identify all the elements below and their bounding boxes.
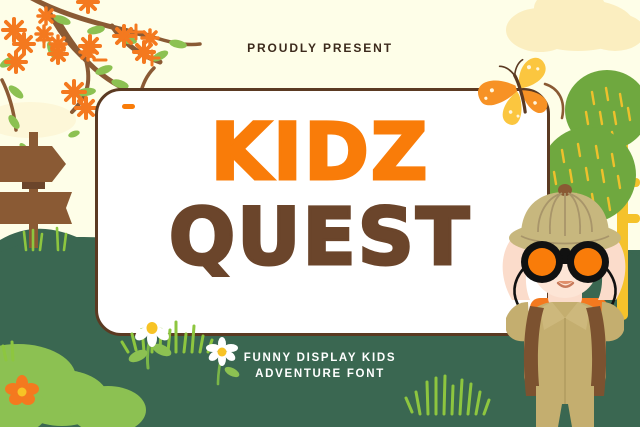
shirt bbox=[506, 302, 624, 386]
poster-canvas: PROUDLY PRESENT KIDZ QUEST FUNNY DISPLAY… bbox=[0, 0, 640, 427]
safari-hat-icon bbox=[509, 184, 621, 254]
shorts bbox=[536, 386, 594, 427]
explorer-kid-illustration bbox=[0, 0, 640, 427]
